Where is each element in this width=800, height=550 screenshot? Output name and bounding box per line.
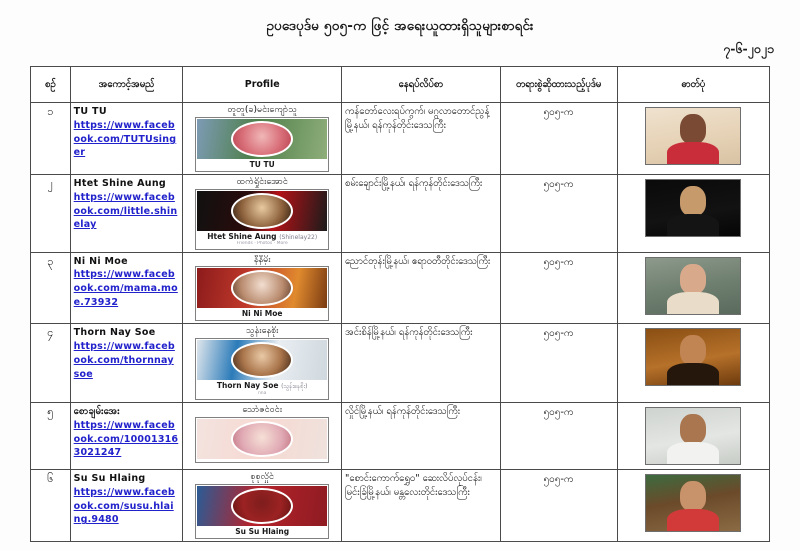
profile-card-meta [197, 460, 327, 461]
profile-card-meta: Friends · Photos · More [197, 241, 327, 248]
profile-cell: နီနီမိုးNi Ni Moe [183, 252, 342, 324]
profile-card-meta [197, 318, 327, 319]
column-header-profile: Profile [183, 67, 342, 103]
row-index: ၄ [31, 324, 71, 403]
profile-link[interactable]: https://www.facebook.com/TUTUsinger [74, 119, 180, 160]
profile-avatar [231, 193, 293, 229]
person-photo [645, 407, 741, 465]
profile-cell: တူတူ(ခ)မင်းကျော်သူTU TU [183, 103, 342, 175]
account-name: Su Su Hlaing [74, 472, 180, 486]
legal-section-cell: ၅၀၅-က [500, 403, 617, 470]
row-index: ၃ [31, 252, 71, 324]
profile-card-name-text: Htet Shine Aung [207, 232, 276, 241]
account-name: Htet Shine Aung [74, 177, 180, 191]
profile-card-name-text: TU TU [250, 160, 275, 169]
column-header-address: နေရပ်လိပ်စာ [342, 67, 501, 103]
person-photo [645, 257, 741, 315]
profile-cell: စုစုလှိုင်Su Su Hlaing [183, 470, 342, 542]
legal-section-cell: ၅၀၅-က [500, 324, 617, 403]
table-row: ၁TU TUhttps://www.facebook.com/TUTUsinge… [31, 103, 770, 175]
profile-card-name: Thorn Nay Soe (သွန်းနေစိုး) [197, 380, 327, 391]
profile-avatar [231, 488, 293, 524]
address-cell: ညောင်တုန်းမြို့နယ်၊ ဧရာဝတီတိုင်းဒေသကြီး [342, 252, 501, 324]
profile-link[interactable]: https://www.facebook.com/thornnaysoe [74, 340, 180, 381]
address-cell: "စောင်းကောက်ရွှေဝ" ဆေးလိပ်လုပ်ငန်း၊ မြင်… [342, 470, 501, 542]
account-cell: Htet Shine Aunghttps://www.facebook.com/… [70, 174, 183, 252]
address-cell: လှိုင်မြို့နယ်၊ ရန်ကုန်တိုင်းဒေသကြီး [342, 403, 501, 470]
profile-link[interactable]: https://www.facebook.com/little.shinelay [74, 191, 180, 232]
photo-cell [617, 174, 769, 252]
address-cell: စမ်းချောင်းမြို့နယ်၊ ရန်ကုန်တိုင်းဒေသကြီ… [342, 174, 501, 252]
row-index: ၂ [31, 174, 71, 252]
profile-cell: သော်ဇင်ဝင်း [183, 403, 342, 470]
profile-avatar [231, 270, 293, 306]
profile-card-name-text: Ni Ni Moe [242, 309, 283, 318]
profile-cover-image [197, 419, 327, 459]
photo-head-shape [680, 414, 706, 444]
row-index: ၆ [31, 470, 71, 542]
photo-head-shape [680, 335, 706, 365]
row-index: ၅ [31, 403, 71, 470]
photo-body-shape [667, 214, 719, 237]
photo-cell [617, 103, 769, 175]
profile-card-meta [197, 536, 327, 537]
photo-cell [617, 324, 769, 403]
photo-head-shape [680, 264, 706, 294]
photo-body-shape [667, 292, 719, 315]
profile-card-name-text: Thorn Nay Soe [217, 381, 279, 390]
profile-caption: စုစုလှိုင် [186, 472, 338, 483]
profile-link[interactable]: https://www.facebook.com/susu.hlaing.948… [74, 486, 180, 527]
address-cell: ကန်တော်လေးရပ်ကွက်၊ မဂ္ဂလာတောင်ညွန့် မြို… [342, 103, 501, 175]
profile-cover-image [197, 119, 327, 159]
profile-card-meta [197, 169, 327, 170]
photo-body-shape [667, 363, 719, 386]
facebook-profile-card [195, 417, 329, 463]
person-photo [645, 328, 741, 386]
profile-caption: ထက်ရှိုင်းအောင် [186, 177, 338, 188]
profile-caption: သော်ဇင်ဝင်း [186, 405, 338, 416]
facebook-profile-card: TU TU [195, 117, 329, 172]
row-index: ၁ [31, 103, 71, 175]
table-row: ၂Htet Shine Aunghttps://www.facebook.com… [31, 174, 770, 252]
photo-cell [617, 403, 769, 470]
photo-head-shape [680, 186, 706, 216]
legal-section-cell: ၅၀၅-က [500, 252, 617, 324]
account-cell: Thorn Nay Soehttps://www.facebook.com/th… [70, 324, 183, 403]
profile-caption: သွန်းနေစိုး [186, 326, 338, 337]
person-photo [645, 179, 741, 237]
column-header-photo: ဓာတ်ပုံ [617, 67, 769, 103]
profile-link[interactable]: https://www.facebook.com/100013163021247 [74, 419, 180, 460]
legal-section-cell: ၅၀၅-က [500, 103, 617, 175]
account-cell: Ni Ni Moehttps://www.facebook.com/mama.m… [70, 252, 183, 324]
account-cell: Su Su Hlainghttps://www.facebook.com/sus… [70, 470, 183, 542]
profile-card-name: Htet Shine Aung (Shinelay22) [197, 231, 327, 241]
profile-card-meta: nna [197, 391, 327, 398]
profile-cell: ထက်ရှိုင်းအောင်Htet Shine Aung (Shinelay… [183, 174, 342, 252]
register-table: စဉ် အကောင့်အမည် Profile နေရပ်လိပ်စာ တရား… [30, 66, 770, 542]
photo-cell [617, 252, 769, 324]
document-date: ၇-၆-၂၀၂၁ [0, 34, 800, 60]
legal-section-cell: ၅၀၅-က [500, 174, 617, 252]
photo-body-shape [667, 442, 719, 465]
account-name: Ni Ni Moe [74, 255, 180, 269]
facebook-profile-card: Ni Ni Moe [195, 266, 329, 321]
page-title: ဥပဒေပုဒ်မ ၅၀၅-က ဖြင့် အရေးယူထားရှိသူများ… [0, 0, 800, 34]
table-header-row: စဉ် အကောင့်အမည် Profile နေရပ်လိပ်စာ တရား… [31, 67, 770, 103]
profile-avatar [231, 342, 293, 378]
legal-section-cell: ၅၀၅-က [500, 470, 617, 542]
profile-cover-image [197, 268, 327, 308]
table-row: ၃Ni Ni Moehttps://www.facebook.com/mama.… [31, 252, 770, 324]
profile-cover-image [197, 486, 327, 526]
column-header-no: စဉ် [31, 67, 71, 103]
profile-cell: သွန်းနေစိုးThorn Nay Soe (သွန်းနေစိုး)nn… [183, 324, 342, 403]
photo-body-shape [667, 142, 719, 165]
profile-card-subtitle: (Shinelay22) [279, 234, 317, 241]
column-header-section: တရားစွဲဆိုထားသည့်ပုဒ်မ [500, 67, 617, 103]
account-name: TU TU [74, 105, 180, 119]
table-body: ၁TU TUhttps://www.facebook.com/TUTUsinge… [31, 103, 770, 542]
column-header-account: အကောင့်အမည် [70, 67, 183, 103]
photo-head-shape [680, 114, 706, 144]
table-row: ၆Su Su Hlainghttps://www.facebook.com/su… [31, 470, 770, 542]
photo-cell [617, 470, 769, 542]
profile-caption: နီနီမိုး [186, 255, 338, 266]
account-name: စောချမ်းအေး [74, 405, 180, 419]
profile-card-name: Ni Ni Moe [197, 308, 327, 318]
document-page: ဥပဒေပုဒ်မ ၅၀၅-က ဖြင့် အရေးယူထားရှိသူများ… [0, 0, 800, 550]
photo-body-shape [667, 509, 719, 532]
profile-card-name-text: Su Su Hlaing [235, 527, 289, 536]
table-row: ၅စောချမ်းအေးhttps://www.facebook.com/100… [31, 403, 770, 470]
profile-cover-image [197, 191, 327, 231]
profile-card-name: TU TU [197, 159, 327, 169]
facebook-profile-card: Su Su Hlaing [195, 484, 329, 539]
account-cell: TU TUhttps://www.facebook.com/TUTUsinger [70, 103, 183, 175]
profile-link[interactable]: https://www.facebook.com/mama.moe.73932 [74, 268, 180, 309]
facebook-profile-card: Htet Shine Aung (Shinelay22)Friends · Ph… [195, 189, 329, 250]
profile-card-name: Su Su Hlaing [197, 526, 327, 536]
address-cell: အင်းစိန်မြို့နယ်၊ ရန်ကုန်တိုင်းဒေသကြီး [342, 324, 501, 403]
table-row: ၄Thorn Nay Soehttps://www.facebook.com/t… [31, 324, 770, 403]
person-photo [645, 474, 741, 532]
facebook-profile-card: Thorn Nay Soe (သွန်းနေစိုး)nna [195, 338, 329, 400]
photo-head-shape [680, 481, 706, 511]
account-cell: စောချမ်းအေးhttps://www.facebook.com/1000… [70, 403, 183, 470]
person-photo [645, 107, 741, 165]
profile-avatar [231, 121, 293, 157]
profile-card-subtitle: (သွန်းနေစိုး) [281, 383, 307, 390]
profile-caption: တူတူ(ခ)မင်းကျော်သူ [186, 105, 338, 116]
profile-avatar [231, 421, 293, 457]
account-name: Thorn Nay Soe [74, 326, 180, 340]
profile-cover-image [197, 340, 327, 380]
